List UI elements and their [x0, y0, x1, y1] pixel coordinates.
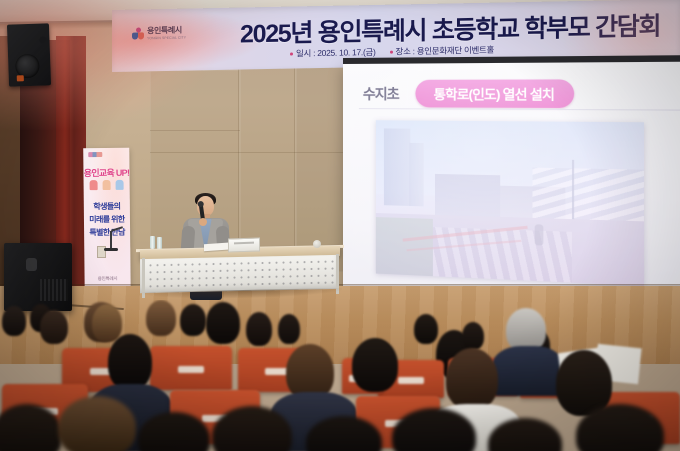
bullet-dot-icon [390, 51, 393, 54]
yongin-city-logo: 용인특례시 YONGIN SPECIAL CITY [132, 27, 186, 41]
standee-logo-icon [88, 152, 102, 157]
audience-head [246, 312, 272, 346]
logo-english-text: YONGIN SPECIAL CITY [147, 36, 186, 40]
slide-photo [376, 120, 644, 286]
speaker-grill-icon [40, 279, 68, 301]
slide-topic-pill: 통학로(인도) 열선 설치 [415, 79, 574, 108]
wall-seam [150, 130, 240, 131]
audience-head [414, 314, 438, 344]
event-standee-banner: 용인교육 UP! 학생들의 미래를 위한 특별한 만남 용인특례시 [83, 148, 131, 298]
speaker-brand-badge [17, 75, 24, 81]
standee-footer-logo: 용인특례시 [85, 276, 131, 282]
standee-illustration-icons [84, 180, 130, 190]
standee-line-1: 학생들의 [84, 200, 130, 213]
audience-head [2, 306, 26, 336]
audience-head [92, 304, 122, 342]
audience-head [462, 322, 484, 350]
audience-head [108, 334, 152, 390]
audience-head-foreground [58, 396, 136, 451]
slide-school-name: 수지초 [363, 83, 399, 103]
speaker-port-icon [26, 258, 37, 271]
standee-line-2: 미래를 위한 [84, 213, 130, 226]
desk-mic-base [104, 248, 118, 251]
perforated-pattern [140, 258, 338, 290]
banner-place: 장소 : 용인문화재단 이벤트홀 [390, 44, 495, 58]
slide-header: 수지초 통학로(인도) 열선 설치 [363, 79, 680, 109]
speaker-tweeter-icon [39, 36, 46, 43]
standee-headline: 용인교육 UP! [83, 166, 129, 179]
city-emblem-icon [132, 27, 144, 40]
table-modesty-panel [140, 255, 338, 293]
drinking-cup [313, 240, 321, 248]
audience-head [40, 310, 68, 344]
wall-seam [150, 152, 344, 153]
audience-area [0, 300, 680, 451]
wall-speaker [7, 23, 51, 86]
photo-projection-wash [376, 120, 644, 286]
presenter-hand [199, 218, 207, 226]
audience-head [206, 302, 240, 344]
standee-line-3: 특별한 만남 [84, 226, 130, 239]
audience-head [278, 314, 300, 344]
name-plate [228, 237, 260, 252]
photo-scene: 용인특례시 YONGIN SPECIAL CITY 2025년 용인특례시 초등… [0, 0, 680, 451]
water-bottle [150, 236, 155, 249]
audience-head [352, 338, 398, 392]
standee-message: 학생들의 미래를 위한 특별한 만남 [84, 200, 130, 239]
wall-seam [294, 60, 295, 272]
audience-head [146, 300, 176, 336]
audience-head [180, 304, 206, 336]
bullet-dot-icon [290, 53, 293, 56]
auditorium-seat[interactable] [150, 346, 232, 390]
audience-head [446, 348, 498, 410]
audience-shoulders [492, 346, 564, 396]
slide-divider [359, 108, 680, 111]
logo-korean-text: 용인특례시 [147, 27, 186, 36]
